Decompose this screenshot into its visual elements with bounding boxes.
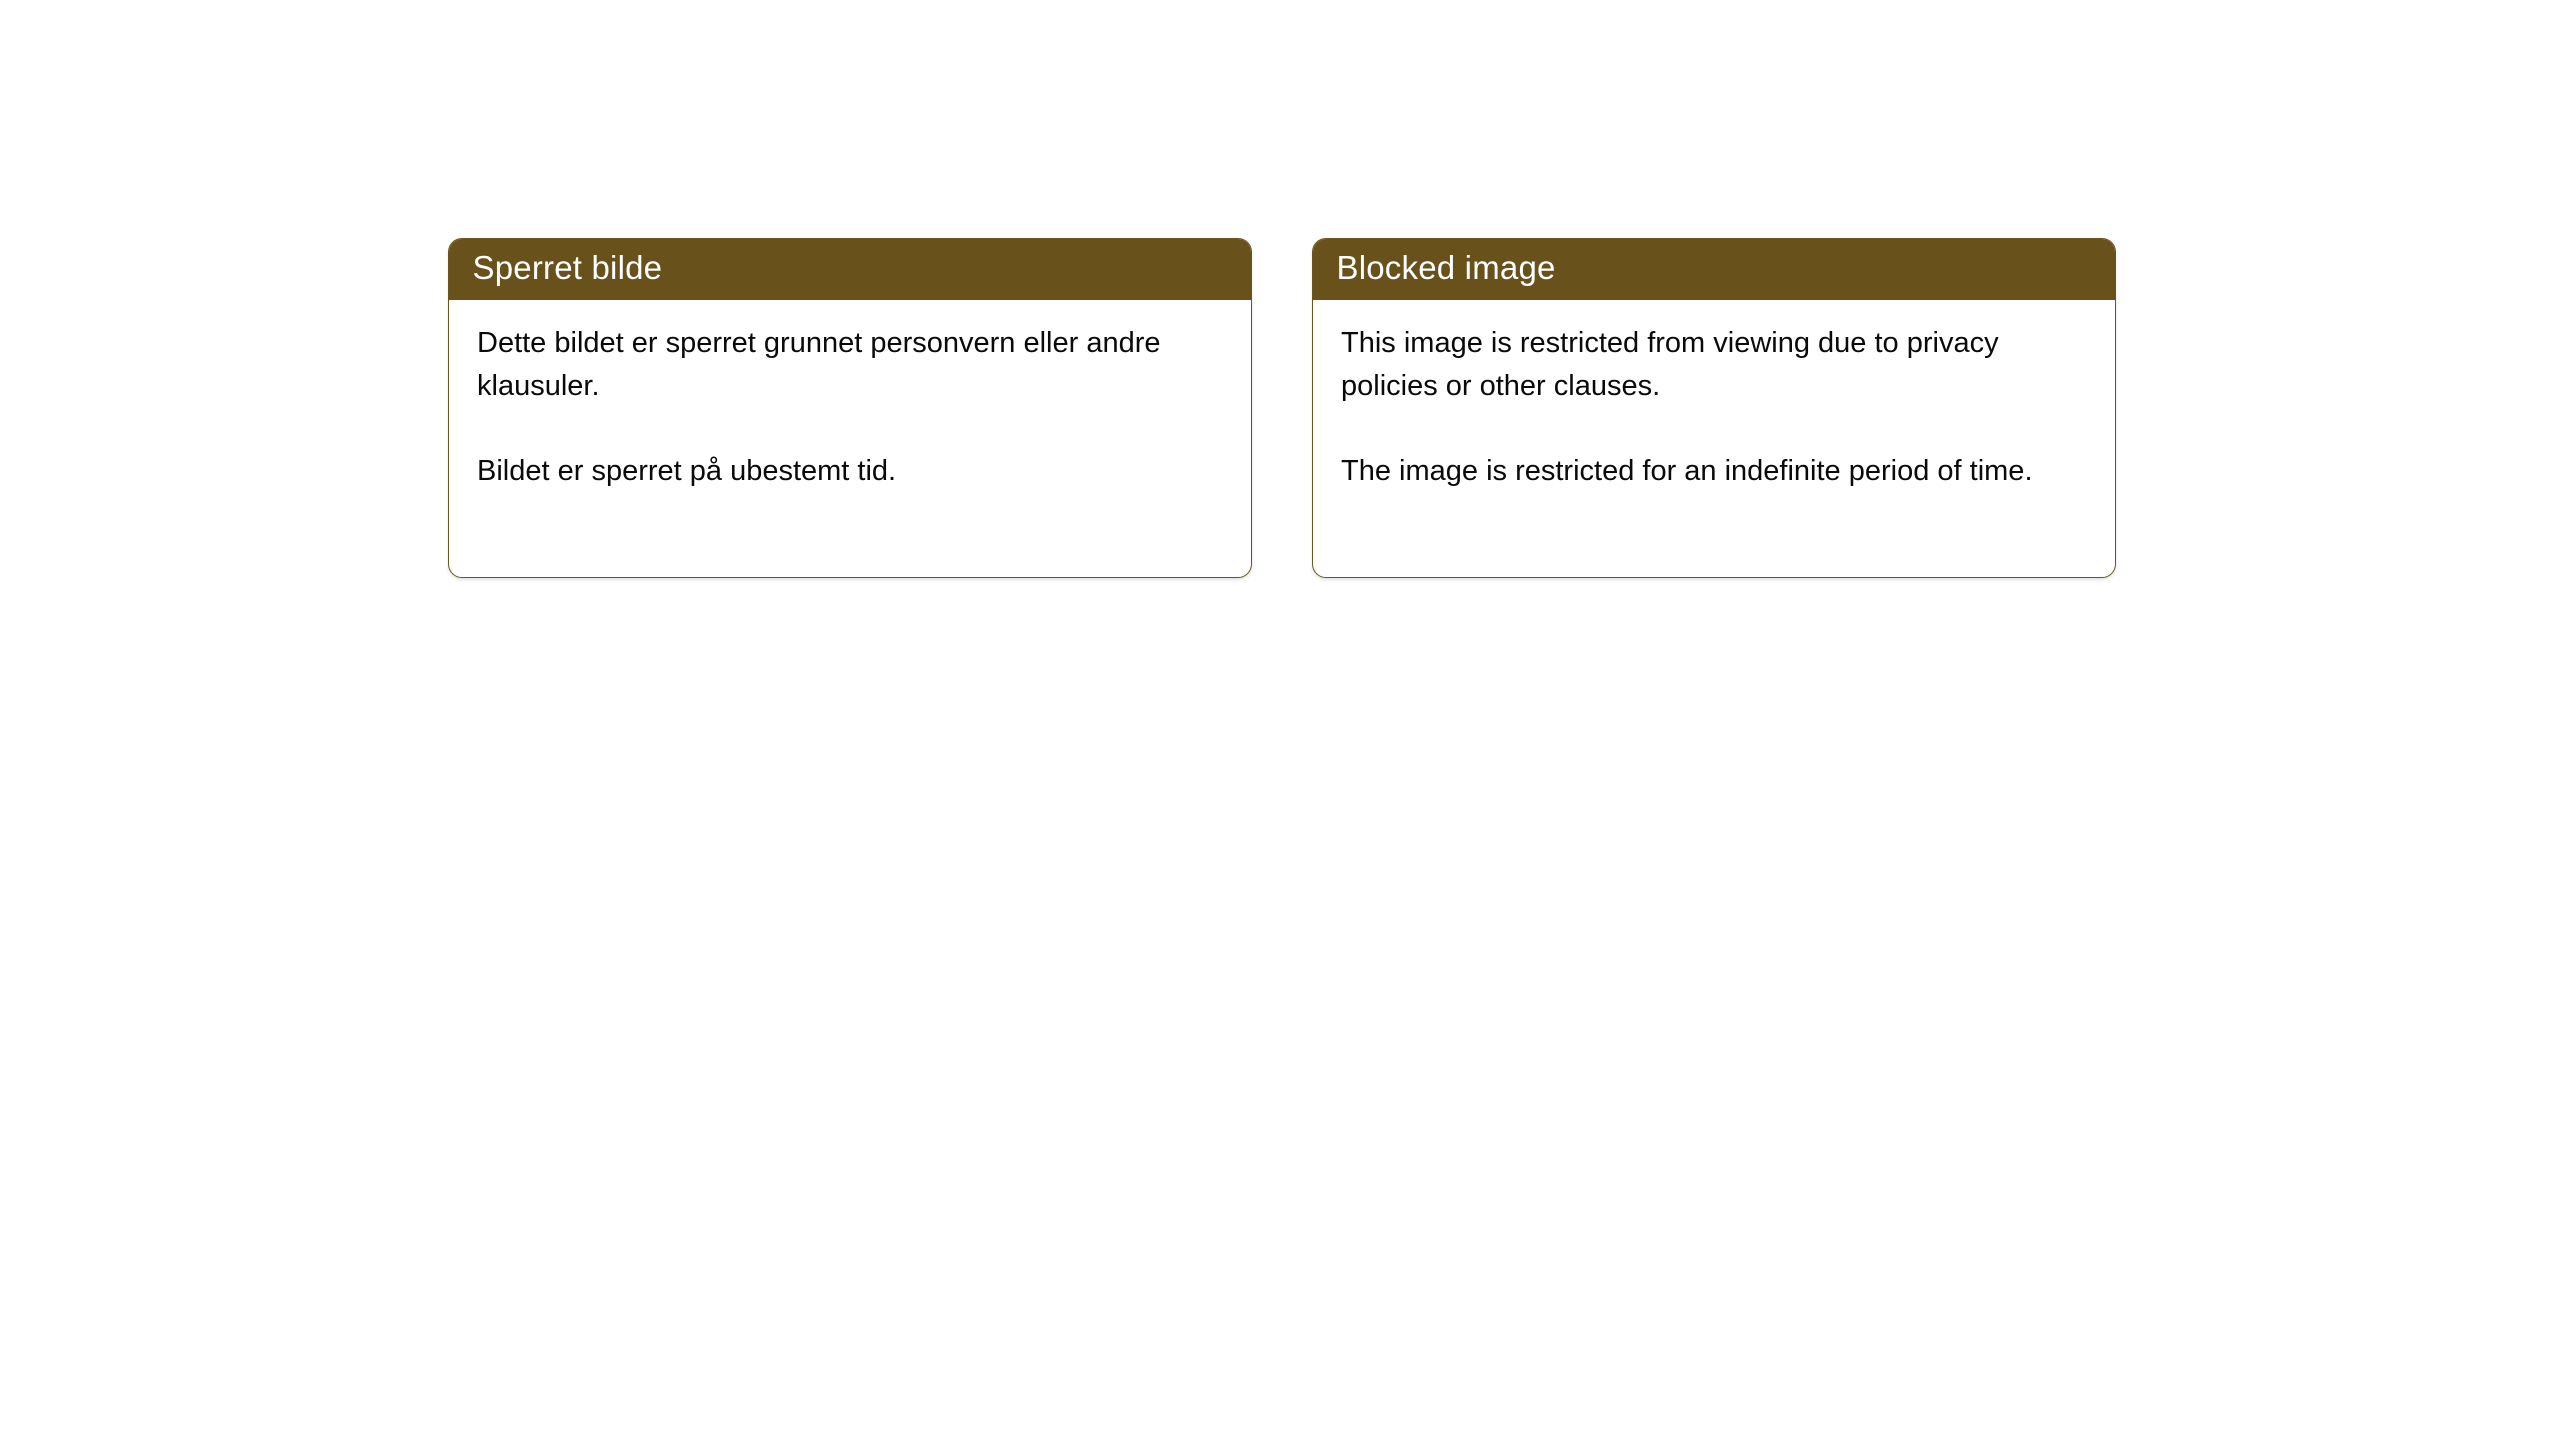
notice-paragraph-primary-norwegian: Dette bildet er sperret grunnet personve… — [477, 322, 1223, 408]
notice-title-norwegian: Sperret bilde — [473, 251, 663, 287]
notice-header-norwegian: Sperret bilde — [448, 238, 1252, 300]
notice-paragraph-primary-english: This image is restricted from viewing du… — [1341, 322, 2087, 408]
blocked-image-notice-english: Blocked image This image is restricted f… — [1312, 238, 2116, 578]
notice-body-norwegian: Dette bildet er sperret grunnet personve… — [449, 300, 1251, 523]
notice-paragraph-secondary-english: The image is restricted for an indefinit… — [1341, 450, 2087, 493]
notice-body-english: This image is restricted from viewing du… — [1313, 300, 2115, 523]
notice-paragraph-secondary-norwegian: Bildet er sperret på ubestemt tid. — [477, 450, 1223, 493]
blocked-image-notice-norwegian: Sperret bilde Dette bildet er sperret gr… — [448, 238, 1252, 578]
notice-header-english: Blocked image — [1312, 238, 2116, 300]
notice-title-english: Blocked image — [1337, 251, 1556, 287]
blocked-image-notices: Sperret bilde Dette bildet er sperret gr… — [448, 238, 2116, 578]
